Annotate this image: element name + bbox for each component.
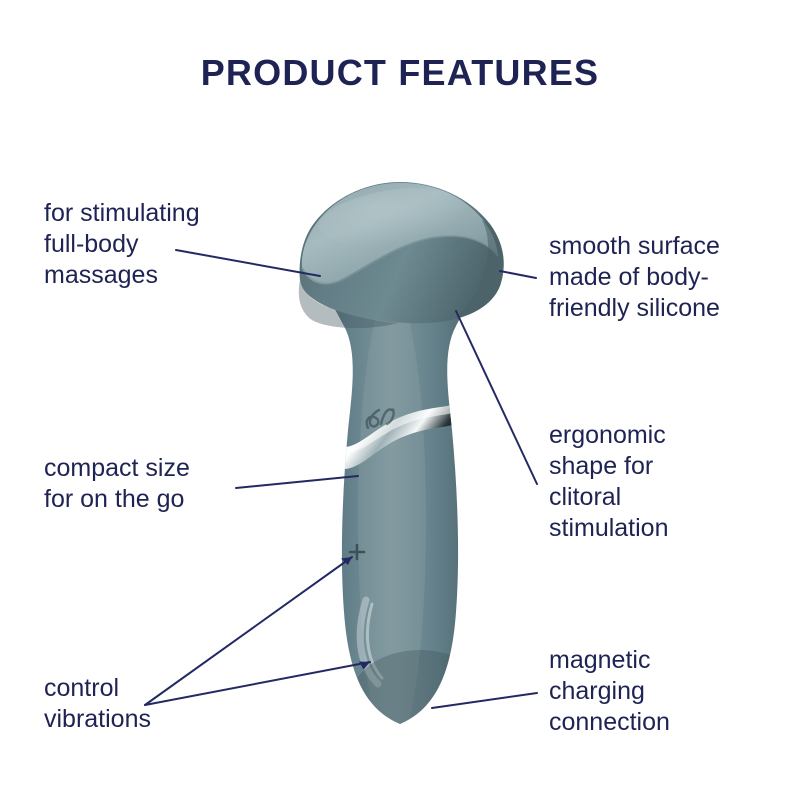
callout-full-body-massages: for stimulating full-body massages <box>44 198 294 291</box>
leader-line-smooth-surface <box>500 271 536 278</box>
callout-compact-size: compact size for on the go <box>44 453 274 515</box>
callout-magnetic-charging: magnetic charging connection <box>549 645 779 738</box>
arrowhead-plus-button <box>341 557 352 565</box>
page-title: PRODUCT FEATURES <box>0 52 800 94</box>
plus-button-icon[interactable] <box>350 545 364 559</box>
product-features-infographic: PRODUCT FEATURES <box>0 0 800 800</box>
chrome-accent-band <box>338 404 458 469</box>
callout-smooth-surface: smooth surface made of body- friendly si… <box>549 231 794 324</box>
product-body <box>318 276 490 750</box>
callout-control-vibrations: control vibrations <box>44 673 244 735</box>
leader-line-ergonomic-shape <box>456 311 537 484</box>
satisfyer-logo <box>367 408 395 428</box>
arrowhead-tip-indicator <box>359 662 370 670</box>
product-head <box>299 179 504 328</box>
callout-ergonomic-shape: ergonomic shape for clitoral stimulation <box>549 420 784 544</box>
leader-line-magnetic-charging <box>432 693 537 708</box>
